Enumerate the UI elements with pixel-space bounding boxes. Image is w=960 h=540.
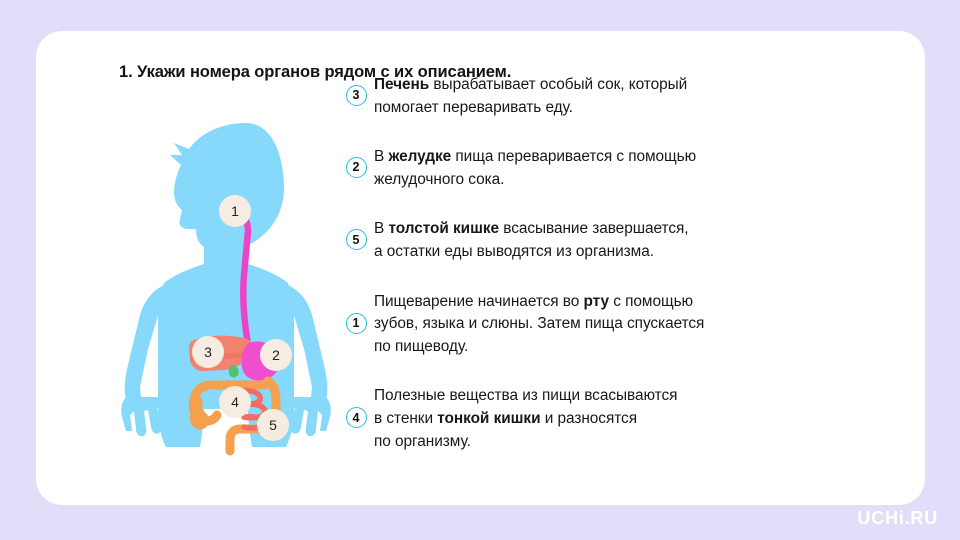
figure-marker-1-label: 1 (231, 203, 239, 219)
answer-badge[interactable]: 2 (346, 157, 367, 178)
figure-marker-3[interactable]: 3 (192, 336, 224, 368)
figure-marker-5-label: 5 (269, 417, 277, 433)
figure-marker-4-label: 4 (231, 394, 239, 410)
description-text: Полезные вещества из пищи всасываютсяв с… (374, 385, 898, 453)
description-item[interactable]: 4 Полезные вещества из пищи всасываютсяв… (338, 385, 898, 453)
description-text: Пищеварение начинается во рту с помощьюз… (374, 291, 898, 359)
description-text: В толстой кишке всасывание завершается,а… (374, 218, 898, 263)
answer-badge[interactable]: 5 (346, 229, 367, 250)
content-card: 1. Укажи номера органов рядом с их описа… (36, 31, 925, 505)
answer-badge-slot[interactable]: 5 (338, 218, 374, 250)
brand-logo: UCHi.RU (857, 508, 938, 529)
description-list: 3 Печень вырабатывает особый сок, которы… (338, 74, 898, 453)
answer-badge[interactable]: 3 (346, 85, 367, 106)
figure-marker-2-label: 2 (272, 347, 280, 363)
answer-badge[interactable]: 1 (346, 313, 367, 334)
answer-badge-slot[interactable]: 1 (338, 291, 374, 334)
description-text: Печень вырабатывает особый сок, которыйп… (374, 74, 898, 119)
digestive-system-illustration: 1 3 2 4 5 (118, 109, 348, 469)
figure-marker-1[interactable]: 1 (219, 195, 251, 227)
answer-badge-slot[interactable]: 2 (338, 146, 374, 178)
description-item[interactable]: 2 В желудке пища переваривается с помощь… (338, 146, 898, 191)
answer-badge[interactable]: 4 (346, 407, 367, 428)
answer-badge-slot[interactable]: 4 (338, 385, 374, 428)
description-item[interactable]: 1 Пищеварение начинается во рту с помощь… (338, 291, 898, 359)
figure-marker-3-label: 3 (204, 344, 212, 360)
description-item[interactable]: 3 Печень вырабатывает особый сок, которы… (338, 74, 898, 119)
description-item[interactable]: 5 В толстой кишке всасывание завершается… (338, 218, 898, 263)
figure-marker-5[interactable]: 5 (257, 409, 289, 441)
figure-marker-4[interactable]: 4 (219, 386, 251, 418)
figure-marker-2[interactable]: 2 (260, 339, 292, 371)
answer-badge-slot[interactable]: 3 (338, 74, 374, 106)
description-text: В желудке пища переваривается с помощьюж… (374, 146, 898, 191)
